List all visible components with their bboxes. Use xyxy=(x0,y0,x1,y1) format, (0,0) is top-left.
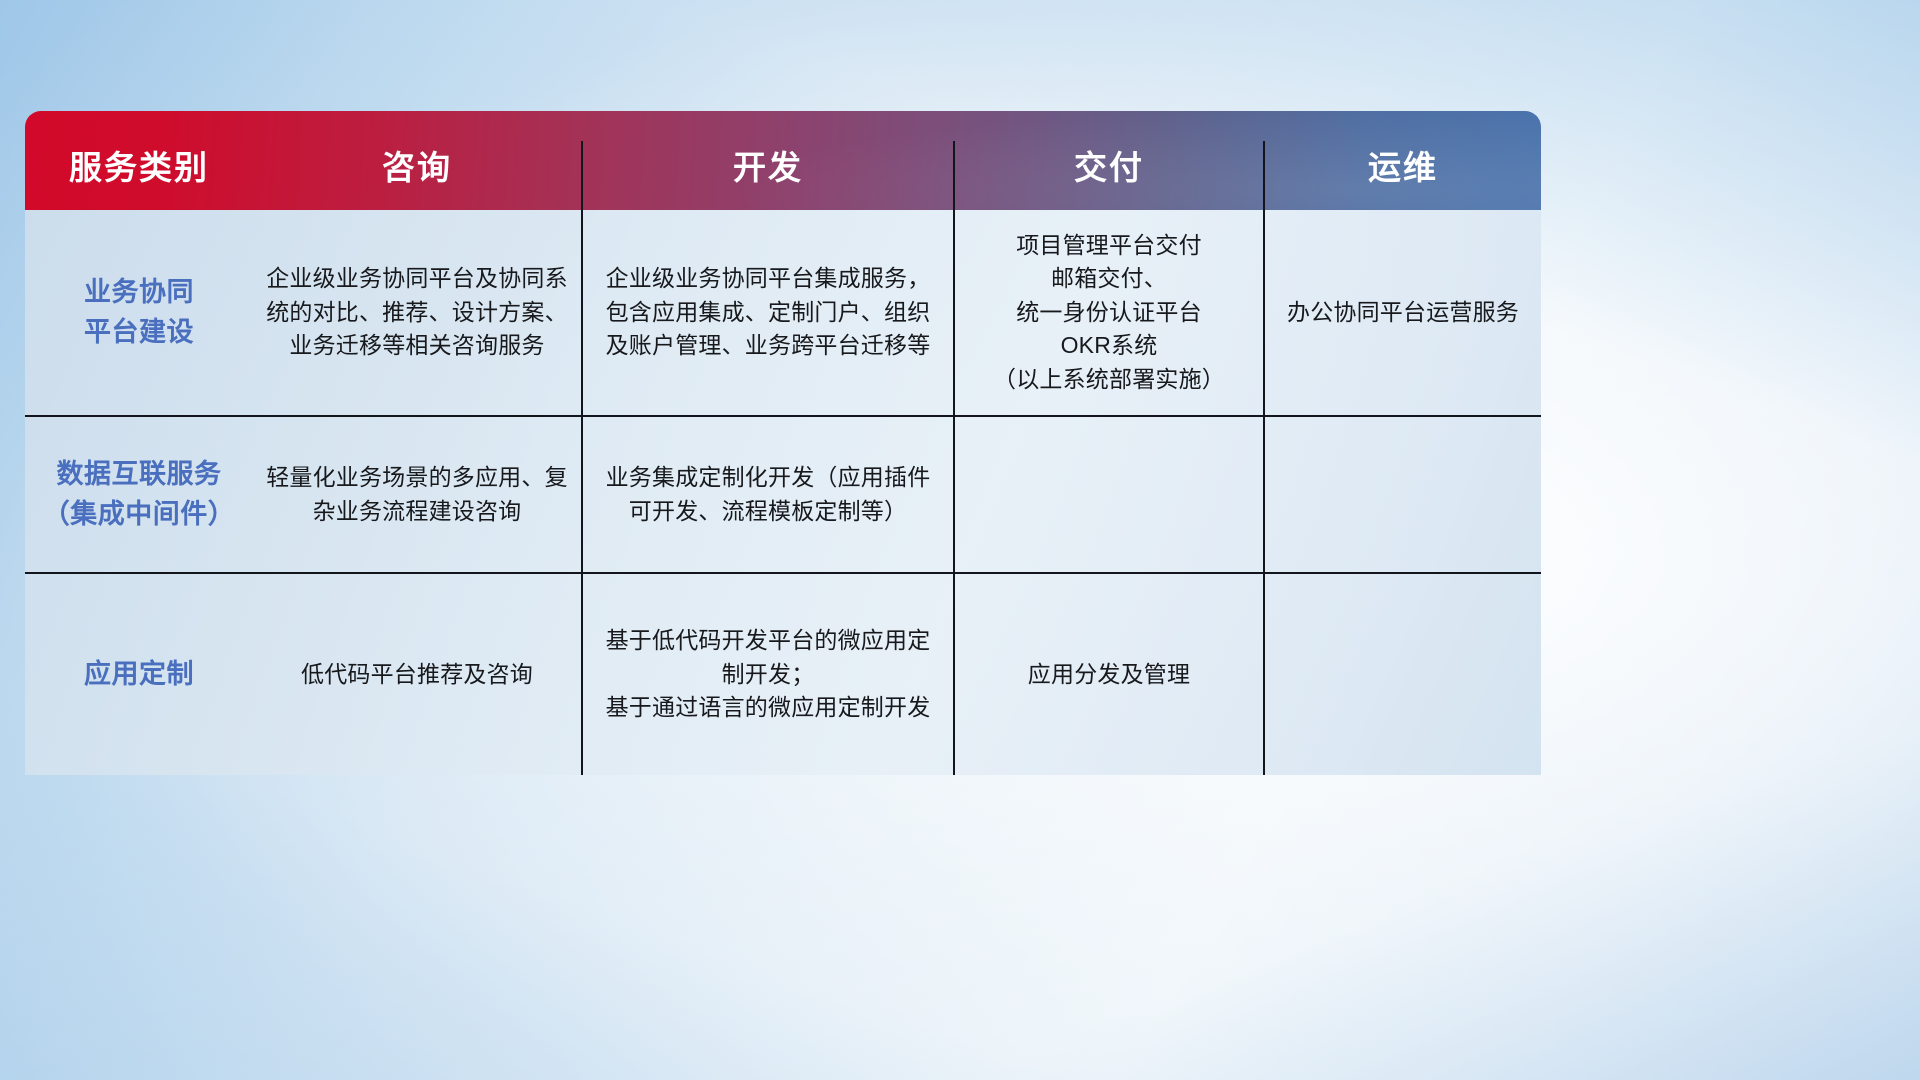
cell-operations xyxy=(1265,574,1541,775)
cell-development: 企业级业务协同平台集成服务， 包含应用集成、定制门户、组织 及账户管理、业务跨平… xyxy=(583,210,955,415)
row-label-app-customization: 应用定制 xyxy=(84,655,194,694)
service-matrix-table: 服务类别 咨询 开发 交付 运维 业务协同 平台建设 企业级业务协同平台及协同系… xyxy=(25,111,1541,775)
column-header-service-category: 服务类别 xyxy=(25,141,253,210)
column-header-operations: 运维 xyxy=(1265,141,1541,210)
cell-development: 基于低代码开发平台的微应用定 制开发； 基于通过语言的微应用定制开发 xyxy=(583,574,955,775)
cell-text: 应用分发及管理 xyxy=(1028,658,1190,691)
table-row: 应用定制 低代码平台推荐及咨询 基于低代码开发平台的微应用定 制开发； 基于通过… xyxy=(25,574,1541,775)
cell-operations: 办公协同平台运营服务 xyxy=(1265,210,1541,415)
cell-consulting: 企业级业务协同平台及协同系 统的对比、推荐、设计方案、 业务迁移等相关咨询服务 xyxy=(253,210,583,415)
cell-consulting: 轻量化业务场景的多应用、复 杂业务流程建设咨询 xyxy=(253,417,583,572)
row-label-data-interconnect: 数据互联服务 （集成中间件） xyxy=(43,455,236,533)
row-label-business-collaboration: 业务协同 平台建设 xyxy=(84,273,194,351)
cell-text: 项目管理平台交付 邮箱交付、 统一身份认证平台 OKR系统 （以上系统部署实施） xyxy=(993,229,1225,396)
cell-text: 办公协同平台运营服务 xyxy=(1287,296,1519,329)
column-header-delivery: 交付 xyxy=(955,141,1265,210)
row-label-cell: 业务协同 平台建设 xyxy=(25,210,253,415)
cell-text: 企业级业务协同平台集成服务， 包含应用集成、定制门户、组织 及账户管理、业务跨平… xyxy=(606,262,931,362)
cell-text: 企业级业务协同平台及协同系 统的对比、推荐、设计方案、 业务迁移等相关咨询服务 xyxy=(266,262,568,362)
cell-development: 业务集成定制化开发（应用插件 可开发、流程模板定制等） xyxy=(583,417,955,572)
cell-text: 基于低代码开发平台的微应用定 制开发； 基于通过语言的微应用定制开发 xyxy=(606,624,931,724)
cell-delivery: 项目管理平台交付 邮箱交付、 统一身份认证平台 OKR系统 （以上系统部署实施） xyxy=(955,210,1265,415)
row-label-cell: 应用定制 xyxy=(25,574,253,775)
table-header-row: 服务类别 咨询 开发 交付 运维 xyxy=(25,111,1541,210)
column-header-consulting: 咨询 xyxy=(253,141,583,210)
cell-delivery xyxy=(955,417,1265,572)
cell-delivery: 应用分发及管理 xyxy=(955,574,1265,775)
cell-text: 轻量化业务场景的多应用、复 杂业务流程建设咨询 xyxy=(266,461,568,528)
table-row: 数据互联服务 （集成中间件） 轻量化业务场景的多应用、复 杂业务流程建设咨询 业… xyxy=(25,417,1541,574)
cell-text: 低代码平台推荐及咨询 xyxy=(301,658,533,691)
table-body: 业务协同 平台建设 企业级业务协同平台及协同系 统的对比、推荐、设计方案、 业务… xyxy=(25,210,1541,775)
column-header-development: 开发 xyxy=(583,141,955,210)
cell-text: 业务集成定制化开发（应用插件 可开发、流程模板定制等） xyxy=(606,461,931,528)
row-label-cell: 数据互联服务 （集成中间件） xyxy=(25,417,253,572)
cell-consulting: 低代码平台推荐及咨询 xyxy=(253,574,583,775)
table-row: 业务协同 平台建设 企业级业务协同平台及协同系 统的对比、推荐、设计方案、 业务… xyxy=(25,210,1541,417)
cell-operations xyxy=(1265,417,1541,572)
